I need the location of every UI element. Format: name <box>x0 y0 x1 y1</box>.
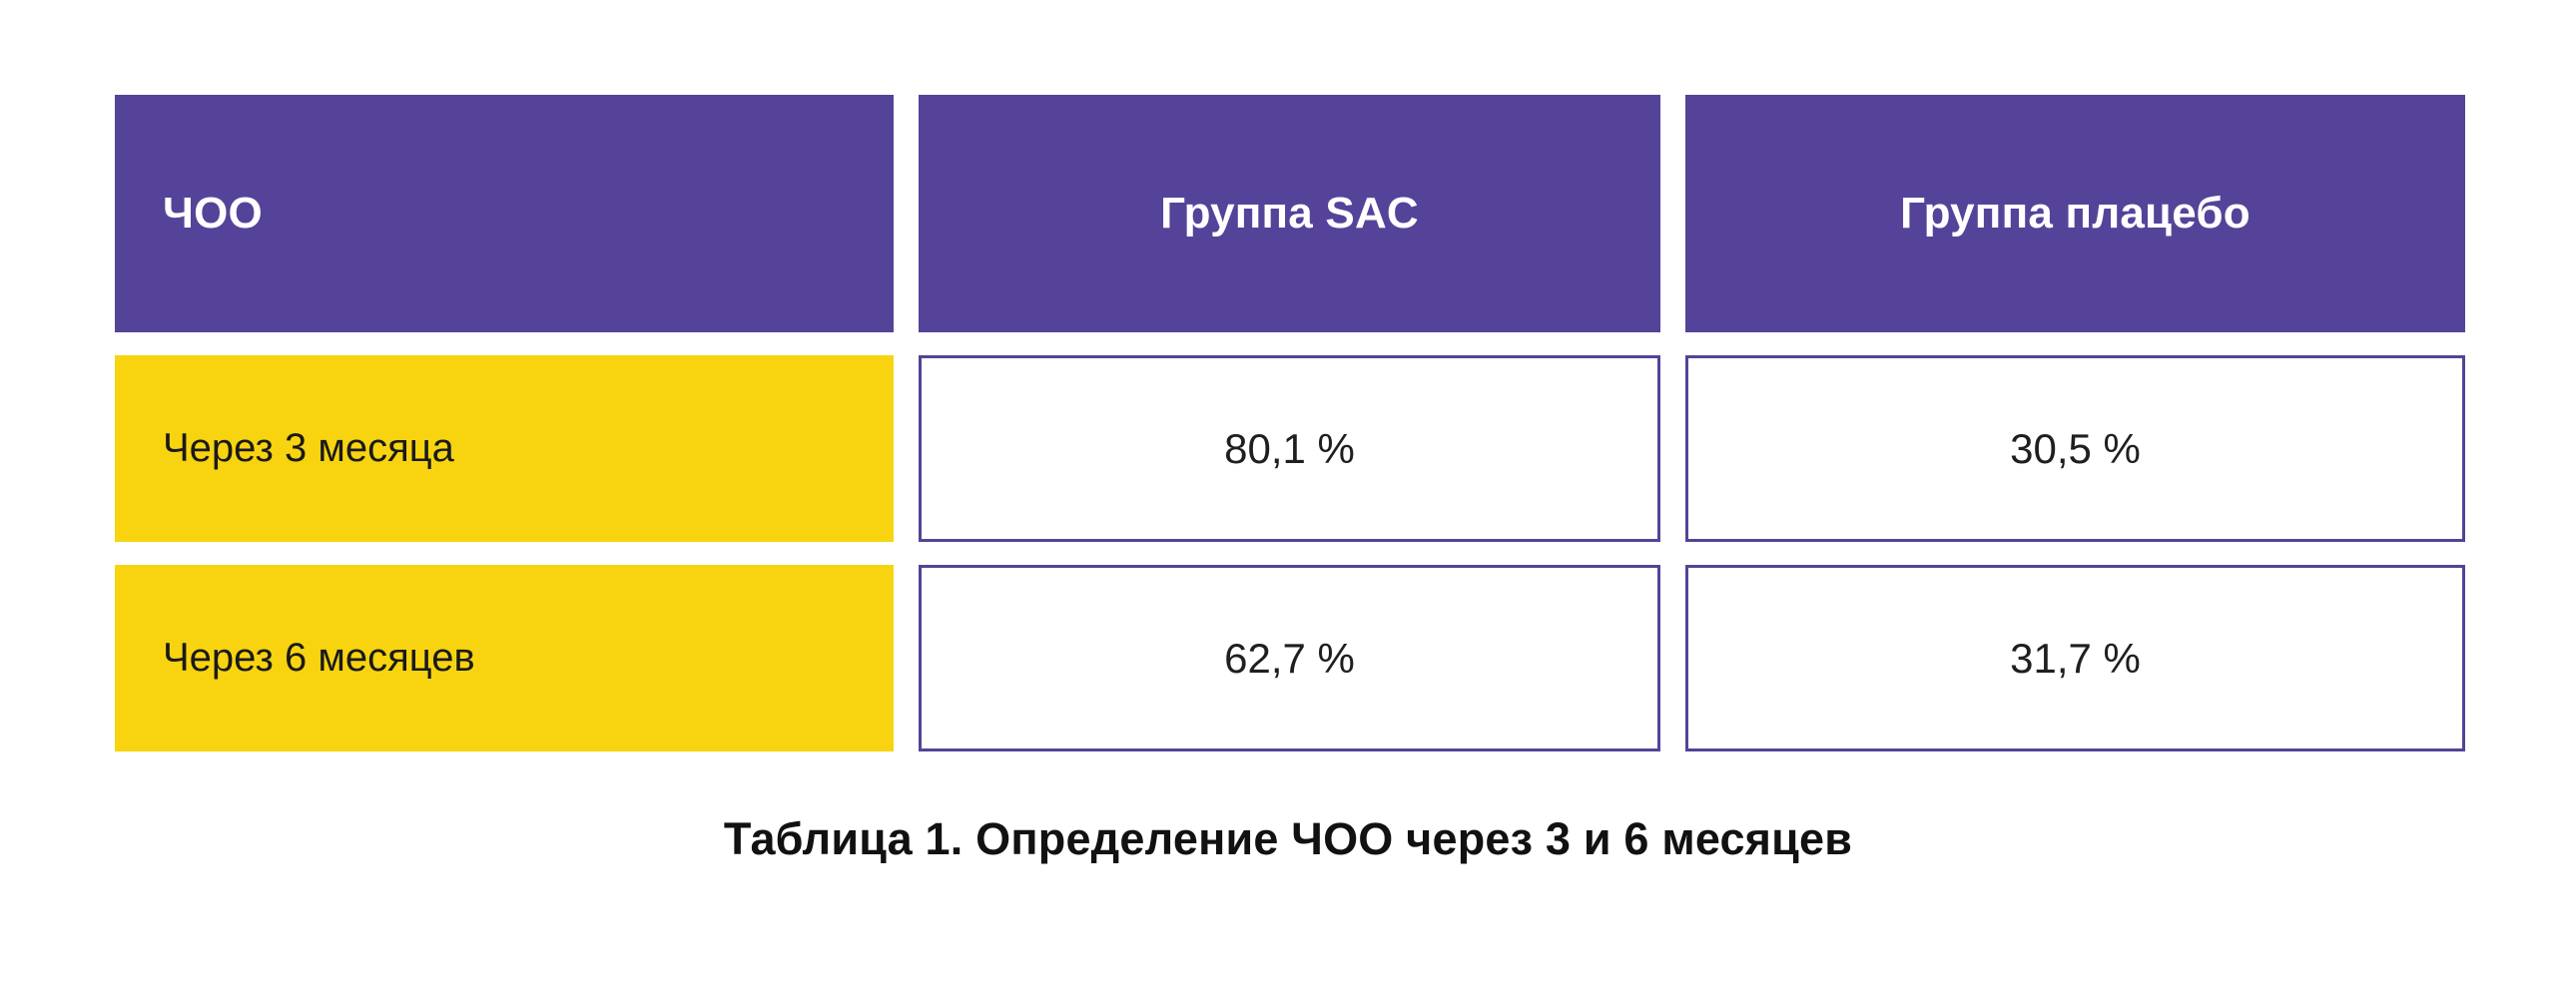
table-row: Через 3 месяца 80,1 % 30,5 % <box>115 355 2462 542</box>
row-gap <box>115 542 2462 565</box>
page-root: ЧОО Группа SAC Группа плацебо Через 3 ме… <box>0 0 2576 992</box>
value-cell-sac-6-months: 62,7 % <box>919 565 1660 751</box>
row-label-3-months: Через 3 месяца <box>115 355 894 542</box>
header-cell-choo: ЧОО <box>115 95 894 332</box>
column-gap <box>1660 95 1685 332</box>
row-label-6-months: Через 6 месяцев <box>115 565 894 751</box>
table-caption: Таблица 1. Определение ЧОО через 3 и 6 м… <box>0 813 2576 865</box>
header-cell-group-placebo: Группа плацебо <box>1685 95 2465 332</box>
header-cell-group-sac: Группа SAC <box>919 95 1660 332</box>
value-cell-placebo-3-months: 30,5 % <box>1685 355 2465 542</box>
value-cell-sac-3-months: 80,1 % <box>919 355 1660 542</box>
column-gap <box>894 565 919 751</box>
column-gap <box>1660 565 1685 751</box>
column-gap <box>894 355 919 542</box>
table-header-row: ЧОО Группа SAC Группа плацебо <box>115 95 2462 332</box>
table-row: Через 6 месяцев 62,7 % 31,7 % <box>115 565 2462 751</box>
value-cell-placebo-6-months: 31,7 % <box>1685 565 2465 751</box>
results-table: ЧОО Группа SAC Группа плацебо Через 3 ме… <box>115 95 2462 751</box>
row-gap <box>115 332 2462 355</box>
column-gap <box>894 95 919 332</box>
column-gap <box>1660 355 1685 542</box>
